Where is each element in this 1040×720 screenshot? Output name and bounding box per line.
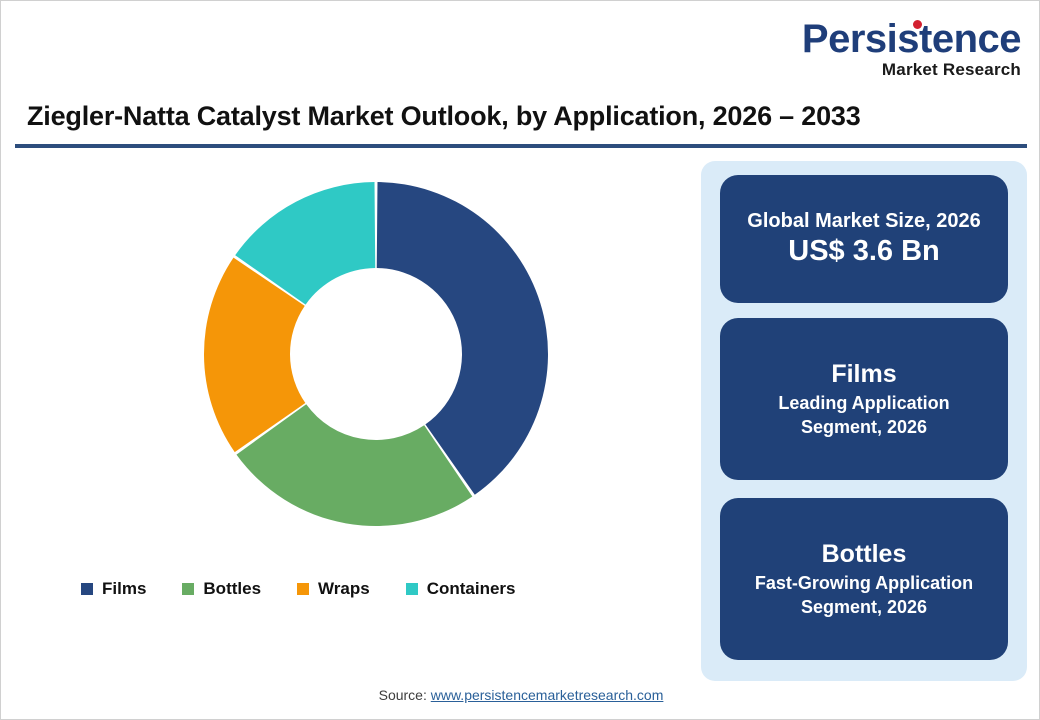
donut-svg xyxy=(201,179,551,529)
source-label: Source: xyxy=(379,687,427,703)
donut-chart xyxy=(15,161,675,631)
legend-item-bottles[interactable]: Bottles xyxy=(182,579,261,599)
card-market-size[interactable]: Global Market Size, 2026 US$ 3.6 Bn xyxy=(720,175,1008,303)
card-market-size-value: US$ 3.6 Bn xyxy=(788,234,940,269)
card-leading-segment-line1: Leading Application xyxy=(778,392,949,415)
infographic-canvas: Persistence Market Research Ziegler-Natt… xyxy=(0,0,1040,720)
legend-item-containers[interactable]: Containers xyxy=(406,579,516,599)
legend-label: Wraps xyxy=(318,579,370,599)
legend-swatch-icon xyxy=(81,583,93,595)
legend-swatch-icon xyxy=(182,583,194,595)
page-title: Ziegler-Natta Catalyst Market Outlook, b… xyxy=(27,101,1007,132)
legend-swatch-icon xyxy=(297,583,309,595)
chart-legend: FilmsBottlesWrapsContainers xyxy=(81,579,651,599)
page-title-wrap: Ziegler-Natta Catalyst Market Outlook, b… xyxy=(27,101,1007,132)
card-leading-segment[interactable]: Films Leading Application Segment, 2026 xyxy=(720,318,1008,480)
highlights-panel: Global Market Size, 2026 US$ 3.6 Bn Film… xyxy=(701,161,1027,681)
logo-wordmark: Persistence xyxy=(802,19,1021,59)
company-logo: Persistence Market Research xyxy=(789,19,1021,78)
legend-label: Containers xyxy=(427,579,516,599)
legend-item-wraps[interactable]: Wraps xyxy=(297,579,370,599)
logo-dot-icon xyxy=(913,20,922,29)
source-link[interactable]: www.persistencemarketresearch.com xyxy=(431,687,664,703)
card-fast-growing-segment-name: Bottles xyxy=(822,539,907,570)
card-leading-segment-line2: Segment, 2026 xyxy=(801,416,927,439)
card-fast-growing-segment[interactable]: Bottles Fast-Growing Application Segment… xyxy=(720,498,1008,660)
card-fast-growing-segment-line2: Segment, 2026 xyxy=(801,596,927,619)
legend-label: Bottles xyxy=(203,579,261,599)
title-divider xyxy=(15,144,1027,148)
card-leading-segment-name: Films xyxy=(831,359,896,390)
card-fast-growing-segment-line1: Fast-Growing Application xyxy=(755,572,973,595)
legend-item-films[interactable]: Films xyxy=(81,579,146,599)
logo-tagline: Market Research xyxy=(789,61,1021,78)
legend-label: Films xyxy=(102,579,146,599)
donut-chart-graphic xyxy=(201,179,551,529)
card-market-size-label: Global Market Size, 2026 xyxy=(747,209,980,235)
legend-swatch-icon xyxy=(406,583,418,595)
source-line: Source: www.persistencemarketresearch.co… xyxy=(1,687,1040,703)
